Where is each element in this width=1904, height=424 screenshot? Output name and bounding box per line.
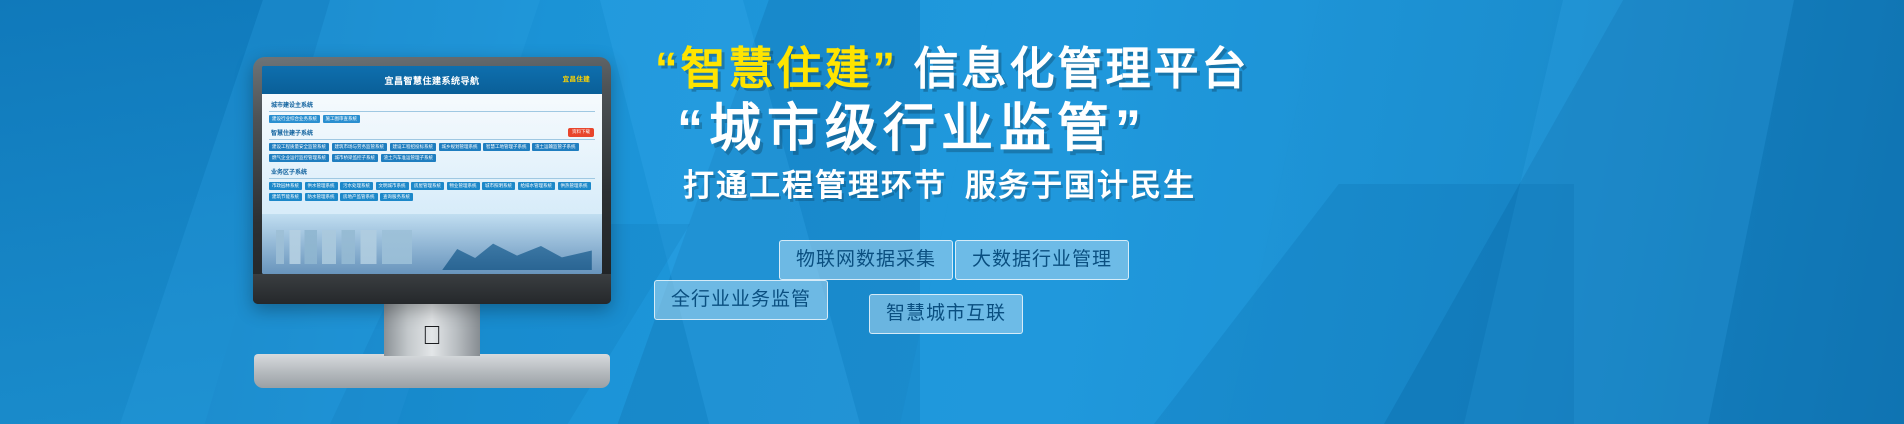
monitor-screen: 宜昌智慧住建系统导航 宜昌住建 YICHANG ZHUJIAN 资料下载 城市建… (262, 66, 602, 274)
screen-panel-2-title: 智慧住建子系统 (269, 127, 595, 140)
screen-city-backdrop (262, 214, 602, 274)
monitor-base (254, 354, 610, 388)
screen-header: 宜昌智慧住建系统导航 宜昌住建 YICHANG ZHUJIAN (262, 66, 602, 94)
screen-chip[interactable]: 智慧工地管理子系统 (483, 143, 530, 152)
apple-logo-icon:  (422, 322, 442, 348)
screen-chip[interactable]: 防水管理系统 (305, 193, 338, 202)
quote-close-glyph: ” (873, 43, 899, 94)
screen-panel-3-title: 业务区子系统 (269, 166, 595, 179)
screen-chip[interactable]: 建设工程招投标系统 (390, 143, 437, 152)
screen-chip[interactable]: 建设工程质量安全监管系统 (269, 143, 329, 152)
headline-line-3-part-b: 服务于国计民生 (965, 168, 1196, 203)
screen-chip[interactable]: 建筑市场与劳务监管系统 (332, 143, 388, 152)
promo-banner: 宜昌智慧住建系统导航 宜昌住建 YICHANG ZHUJIAN 资料下载 城市建… (0, 0, 1904, 424)
screen-chip[interactable]: 施工图审查系统 (323, 115, 361, 124)
headline-line-1-rest: 信息化管理平台 (914, 43, 1250, 94)
screen-panel-3-chips: 市政园林系统 供水管理系统 污水处理系统 文明城市系统 房屋管理系统 物业管理系… (269, 182, 595, 202)
screen-chip[interactable]: 建筑节能系统 (269, 193, 302, 202)
monitor-chin (253, 274, 611, 304)
screen-panel-2: 智慧住建子系统 建设工程质量安全监管系统 建筑市场与劳务监管系统 建设工程招投标… (269, 127, 595, 162)
screen-chip[interactable]: 房地产监管系统 (340, 193, 378, 202)
headline-line-2: “城市级行业监管” (655, 100, 1835, 158)
screen-chip[interactable]: 物业管理系统 (447, 182, 480, 191)
headline-line-3: 打通工程管理环节服务于国计民生 (655, 167, 1835, 204)
screen-chip[interactable]: 城市桥梁监控子系统 (332, 154, 379, 163)
headline-line-3-part-a: 打通工程管理环节 (683, 168, 947, 203)
screen-chip[interactable]: 供热管理系统 (558, 182, 591, 191)
headline-line-1: “智慧住建” 信息化管理平台 (655, 44, 1835, 94)
monitor-bezel: 宜昌智慧住建系统导航 宜昌住建 YICHANG ZHUJIAN 资料下载 城市建… (253, 57, 611, 304)
screen-chip[interactable]: 城乡规划管理系统 (439, 143, 481, 152)
screen-body: 资料下载 城市建设主系统 建设行业综合业务系统 施工图审查系统 智慧住建子系统 … (262, 94, 602, 274)
desktop-monitor-illustration: 宜昌智慧住建系统导航 宜昌住建 YICHANG ZHUJIAN 资料下载 城市建… (253, 57, 611, 304)
screen-chip[interactable]: 给排水管理系统 (518, 182, 556, 191)
headline-block: “智慧住建” 信息化管理平台 “城市级行业监管” 打通工程管理环节服务于国计民生 (655, 44, 1835, 204)
screen-chip[interactable]: 渣土汽车准运管理子系统 (381, 154, 437, 163)
screen-panel-2-chips: 建设工程质量安全监管系统 建筑市场与劳务监管系统 建设工程招投标系统 城乡规划管… (269, 143, 595, 163)
feature-tag-iot-data-collection[interactable]: 物联网数据采集 (779, 240, 953, 280)
screen-chip[interactable]: 污水处理系统 (340, 182, 373, 191)
screen-chip[interactable]: 市政园林系统 (269, 182, 302, 191)
screen-chip[interactable]: 城市照明系统 (482, 182, 515, 191)
screen-chip[interactable]: 供水管理系统 (305, 182, 338, 191)
screen-panel-1: 城市建设主系统 建设行业综合业务系统 施工图审查系统 (269, 99, 595, 123)
screen-panel-1-title: 城市建设主系统 (269, 99, 595, 112)
download-badge[interactable]: 资料下载 (568, 128, 594, 137)
screen-header-title: 宜昌智慧住建系统导航 (384, 74, 479, 87)
quote-open-glyph: “ (655, 43, 681, 94)
screen-panel-1-chips: 建设行业综合业务系统 施工图审查系统 (269, 115, 595, 124)
screen-panel-3: 业务区子系统 市政园林系统 供水管理系统 污水处理系统 文明城市系统 房屋管理系… (269, 166, 595, 201)
screen-chip[interactable]: 燃气企业运行监控管理系统 (269, 154, 329, 163)
screen-logo-cn: 宜昌住建 (563, 76, 591, 83)
screen-chip[interactable]: 渣土运输监管子系统 (532, 143, 579, 152)
screen-chip[interactable]: 查询服务系统 (380, 193, 413, 202)
screen-chip[interactable]: 房屋管理系统 (411, 182, 444, 191)
headline-line-1-highlight: 智慧住建 (681, 43, 873, 94)
feature-tag-all-industry-supervision[interactable]: 全行业业务监管 (654, 280, 828, 320)
screen-chip[interactable]: 建设行业综合业务系统 (269, 115, 320, 124)
feature-tag-smart-city-interconnect[interactable]: 智慧城市互联 (869, 294, 1023, 334)
feature-tag-bigdata-industry-management[interactable]: 大数据行业管理 (955, 240, 1129, 280)
screen-chip[interactable]: 文明城市系统 (376, 182, 409, 191)
